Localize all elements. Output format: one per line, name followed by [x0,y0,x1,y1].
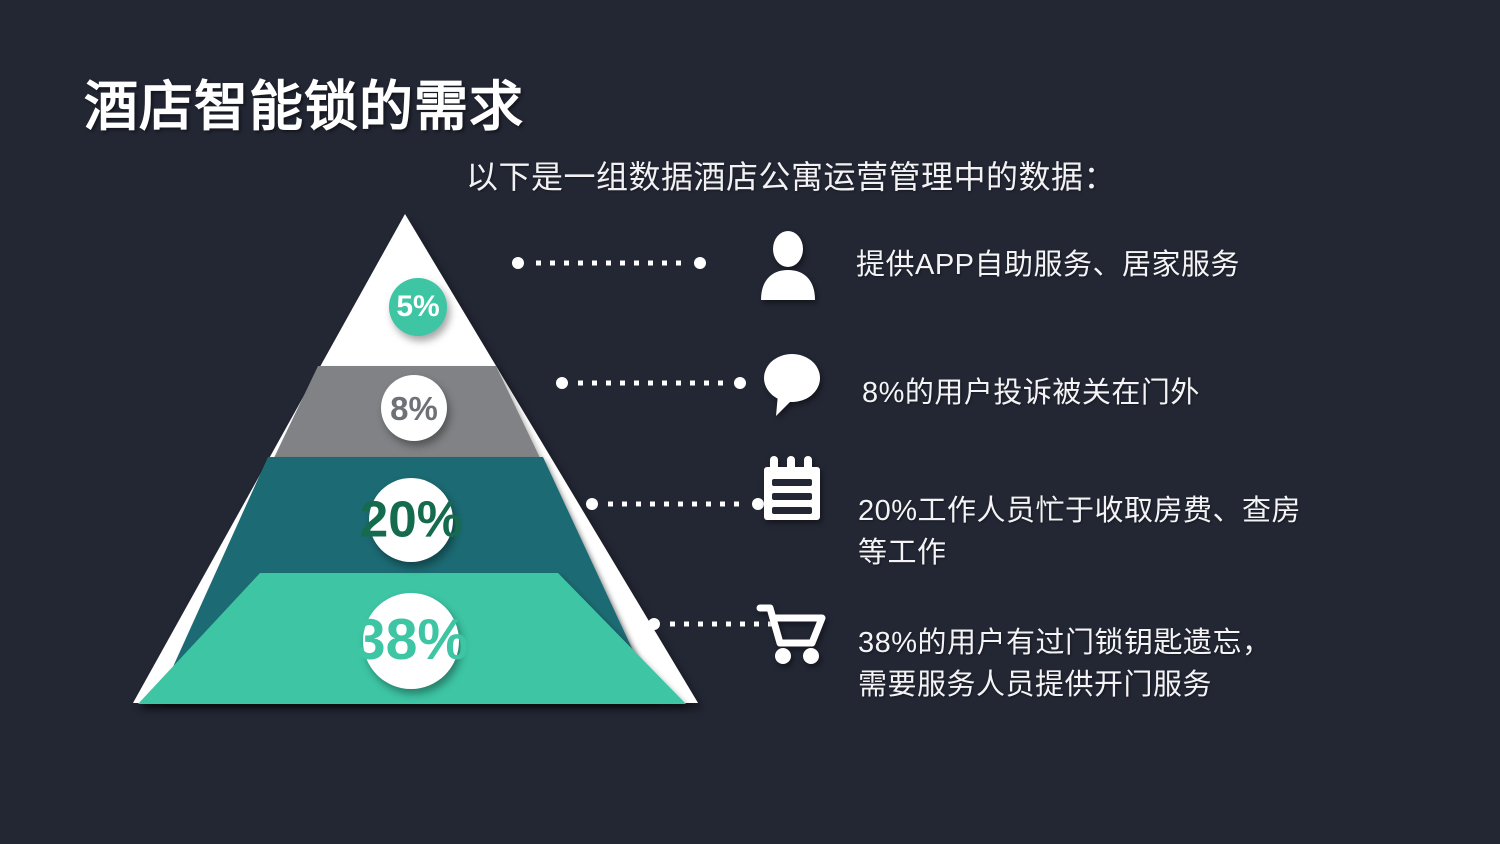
notepad-icon [756,452,828,524]
pyramid-badge-20: 20% [369,478,453,562]
page-subtitle: 以下是一组数据酒店公寓运营管理中的数据： [466,152,1116,198]
pyramid-badge-8: 8% [381,375,447,441]
connector-line-2 [556,376,746,390]
person-icon [752,228,824,300]
connector-line-3 [586,497,764,511]
slide-canvas: 酒店智能锁的需求 以下是一组数据酒店公寓运营管理中的数据： 5% [0,0,1500,844]
connector-line-1 [512,256,706,270]
shopping-cart-icon [756,598,828,670]
pyramid-badge-8-label: 8% [390,392,438,425]
list-item-label: 提供APP自助服务、居家服务 [856,244,1356,286]
list-item-label: 38%的用户有过门锁钥匙遗忘，需要服务人员提供开门服务 [858,622,1288,706]
pyramid-badge-38: 38% [363,593,459,689]
list-item-label: 20%工作人员忙于收取房费、查房等工作 [858,490,1308,574]
pyramid-badge-38-label: 38% [354,612,469,669]
pyramid-badge-5-label: 5% [396,292,439,322]
pyramid-badge-20-label: 20% [360,494,462,545]
speech-bubble-icon [754,348,826,420]
pyramid-badge-5: 5% [389,278,447,336]
list-item-label: 8%的用户投诉被关在门外 [862,372,1362,414]
page-title: 酒店智能锁的需求 [84,62,524,141]
